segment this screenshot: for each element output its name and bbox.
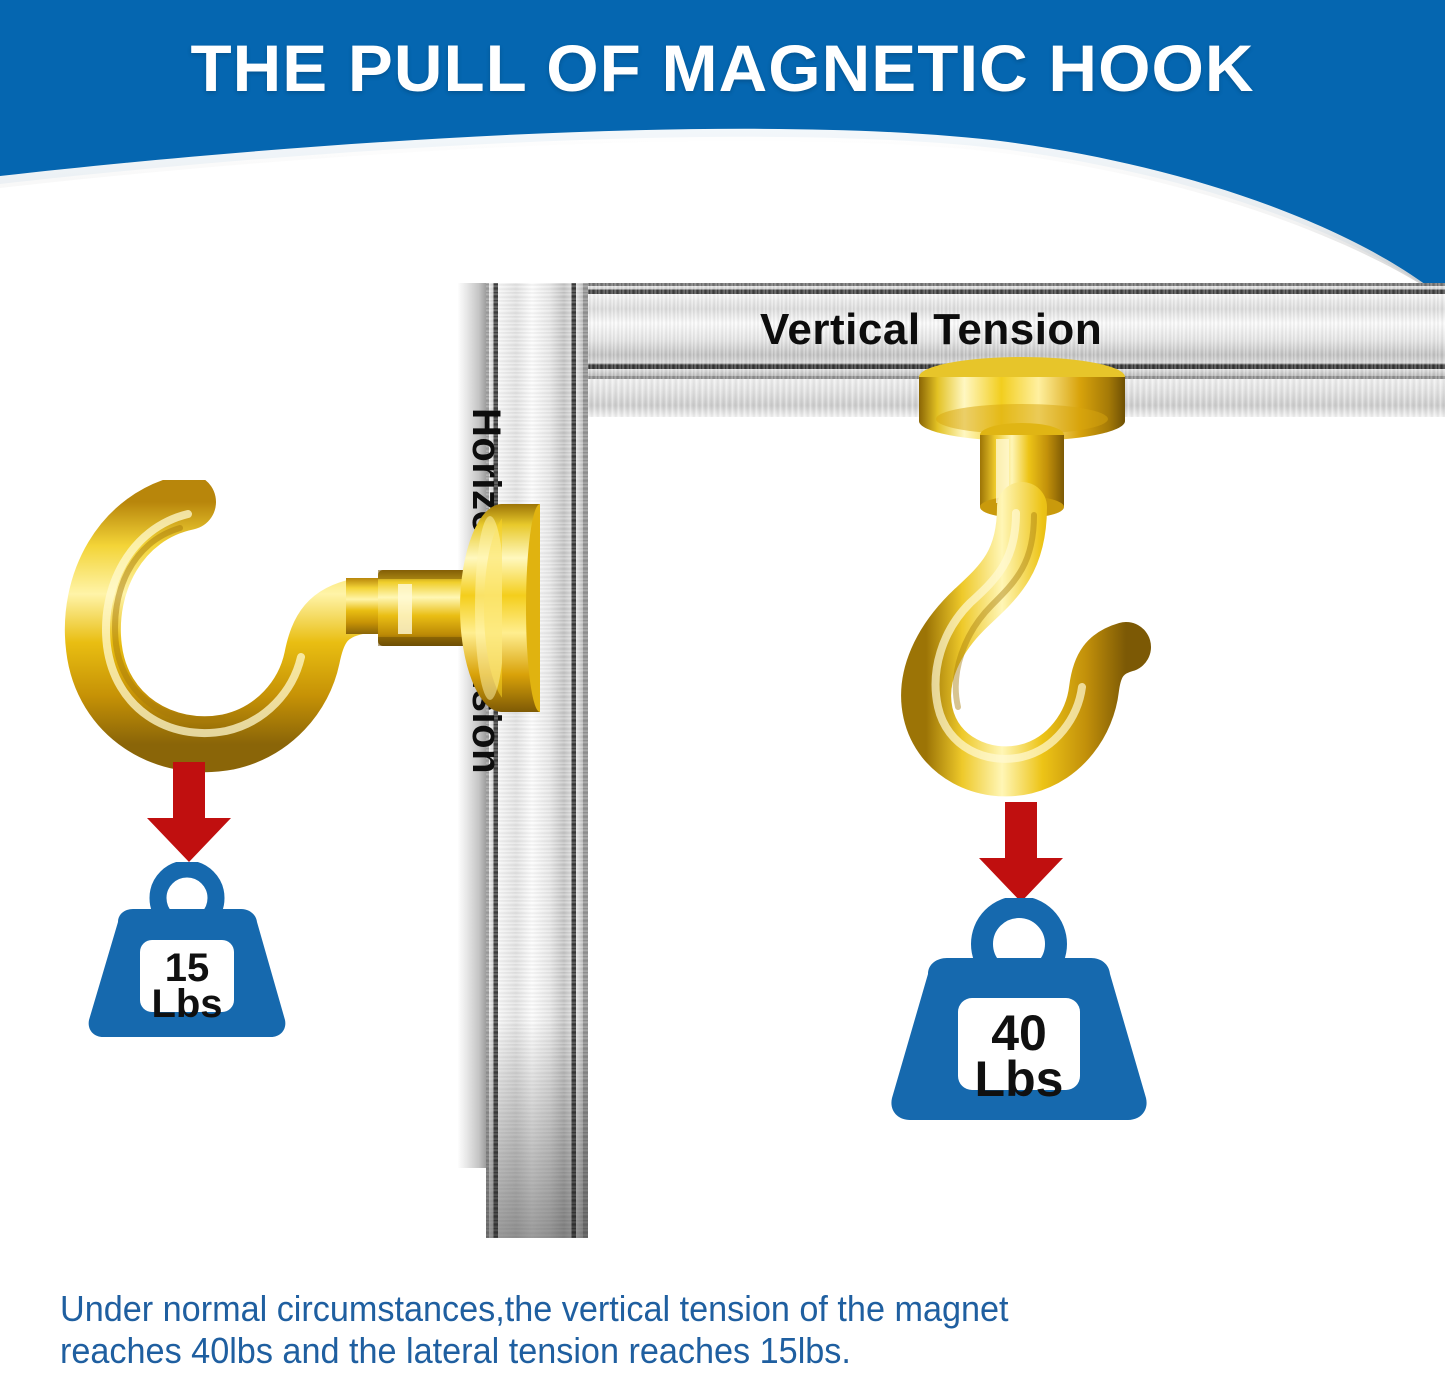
infographic-canvas: THE PULL OF MAGNETIC HOOK Vertical Tensi… [0,0,1445,1370]
caption-line-2: reaches 40lbs and the lateral tension re… [60,1330,1324,1372]
caption-block: Under normal circumstances,the vertical … [60,1288,1324,1373]
weight-15lbs: 15 Lbs [78,862,296,1042]
vertical-tension-label: Vertical Tension [760,305,1102,355]
down-arrow-icon [975,802,1067,902]
caption-line-1: Under normal circumstances,the vertical … [60,1288,1324,1330]
page-title: THE PULL OF MAGNETIC HOOK [0,30,1445,106]
down-arrow-icon [143,762,235,862]
weight-unit: Lbs [878,1054,1160,1104]
header-banner: THE PULL OF MAGNETIC HOOK [0,0,1445,300]
weight-unit: Lbs [78,984,296,1024]
horizontal-hook-assembly [60,480,540,840]
vertical-hook-assembly [850,355,1200,805]
bar-shadow-gradient [486,1018,588,1238]
weight-40lbs: 40 Lbs [878,898,1160,1126]
